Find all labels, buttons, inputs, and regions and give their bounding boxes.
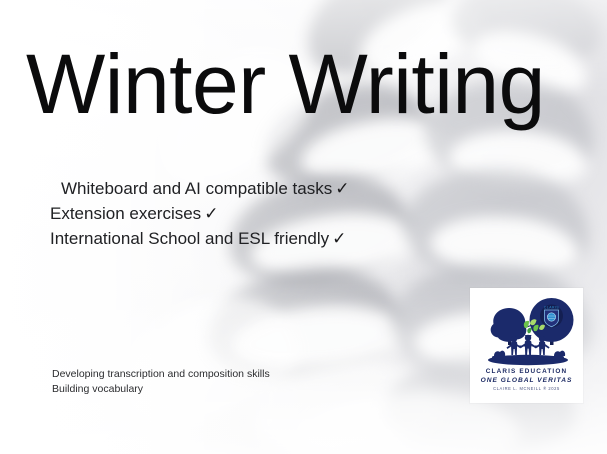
footnote-line: Developing transcription and composition… [52,367,270,382]
logo-wordmark: CLARIS EDUCATION ONE GLOBAL VERITAS CLAI… [470,368,583,392]
list-item: Whiteboard and AI compatible tasks✓ [50,176,349,201]
list-item: Extension exercises✓ [50,201,349,226]
bullet-text: Whiteboard and AI compatible tasks [61,179,332,198]
footnote-line: Building vocabulary [52,382,270,397]
footnote-block: Developing transcription and composition… [52,367,270,397]
page-title: Winter Writing [26,42,545,126]
check-icon: ✓ [332,179,349,198]
slide-canvas: Winter Writing Whiteboard and AI compati… [0,0,607,454]
logo-line-motto: ONE GLOBAL VERITAS [470,376,583,385]
bullet-text: International School and ESL friendly [50,229,329,248]
bullet-text: Extension exercises [50,204,201,223]
check-icon: ✓ [329,229,346,248]
check-icon: ✓ [201,204,218,223]
logo-line-primary: CLARIS EDUCATION [470,368,583,376]
svg-text:CLARIS: CLARIS [544,306,559,310]
list-item: International School and ESL friendly✓ [50,226,349,251]
logo-card: CLARIS [470,288,583,403]
feature-bullet-list: Whiteboard and AI compatible tasks✓ Exte… [50,176,349,251]
claris-education-logo-icon: CLARIS [478,294,575,368]
logo-line-copyright: CLAIRE L. MCNEILL ® 2025 [470,385,583,392]
